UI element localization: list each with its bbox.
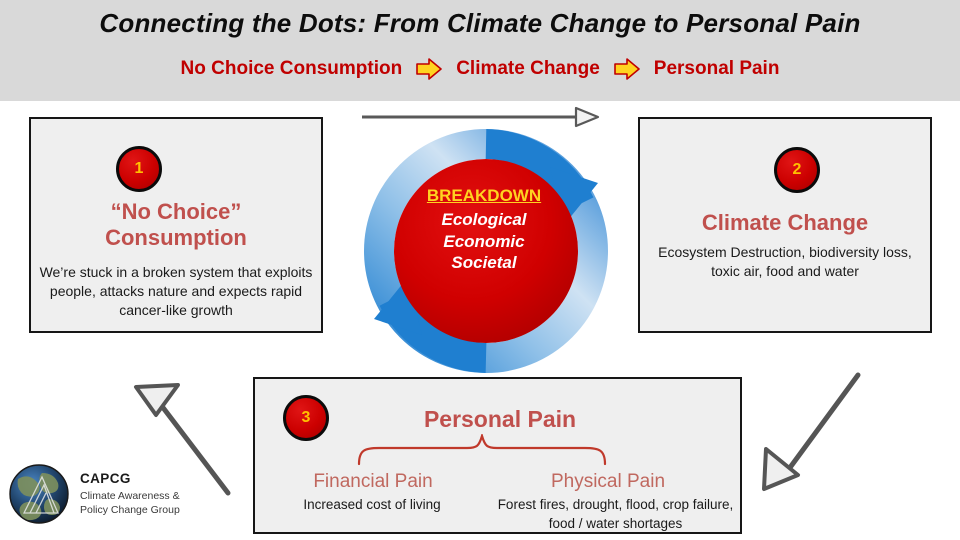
physical-pain-body: Forest fires, drought, flood, crop failu… (489, 496, 742, 533)
status-badge-3: 3 (283, 395, 329, 441)
financial-pain-body: Increased cost of living (272, 496, 472, 515)
cycle-title: BREAKDOWN (392, 185, 576, 206)
panel-right-body: Ecosystem Destruction, biodiversity loss… (648, 243, 922, 281)
flow-step-1-label: No Choice Consumption (181, 58, 403, 80)
panel-left-heading-line2: Consumption (105, 225, 247, 250)
down-left-arrow-connector-icon (750, 365, 870, 495)
cycle-item-societal: Societal (392, 252, 576, 273)
cycle-item-economic: Economic (392, 231, 576, 252)
logo-tagline-line2: Policy Change Group (80, 504, 180, 516)
flow-strip: No Choice Consumption Climate Change Per… (0, 58, 960, 80)
flow-step-2-label: Climate Change (456, 58, 600, 80)
status-badge-2: 2 (774, 147, 820, 193)
right-arrow-icon (614, 58, 640, 80)
logo-name: CAPCG (80, 471, 180, 486)
logo-text: CAPCG Climate Awareness & Policy Change … (80, 471, 180, 517)
right-arrow-icon (416, 58, 442, 80)
financial-pain-heading: Financial Pain (288, 471, 458, 493)
panel-left-heading: “No Choice” Consumption (29, 199, 323, 251)
cycle-item-ecological: Ecological (392, 209, 576, 230)
logo-tagline-line1: Climate Awareness & (80, 490, 180, 502)
physical-pain-heading: Physical Pain (523, 471, 693, 493)
cycle-text-block: BREAKDOWN Ecological Economic Societal (392, 185, 576, 273)
status-badge-1: 1 (116, 146, 162, 192)
curly-brace-icon (355, 434, 610, 466)
page-title: Connecting the Dots: From Climate Change… (0, 8, 960, 39)
globe-logo-icon (8, 463, 70, 525)
panel-right-heading: Climate Change (638, 210, 932, 236)
logo-tagline: Climate Awareness & Policy Change Group (80, 490, 180, 517)
panel-left-body: We’re stuck in a broken system that expl… (39, 263, 313, 320)
panel-bottom-title: Personal Pain (330, 406, 670, 433)
panel-left-heading-line1: “No Choice” (111, 199, 242, 224)
flow-step-3-label: Personal Pain (654, 58, 780, 80)
logo: CAPCG Climate Awareness & Policy Change … (8, 458, 198, 530)
slide-canvas: Connecting the Dots: From Climate Change… (0, 0, 960, 540)
